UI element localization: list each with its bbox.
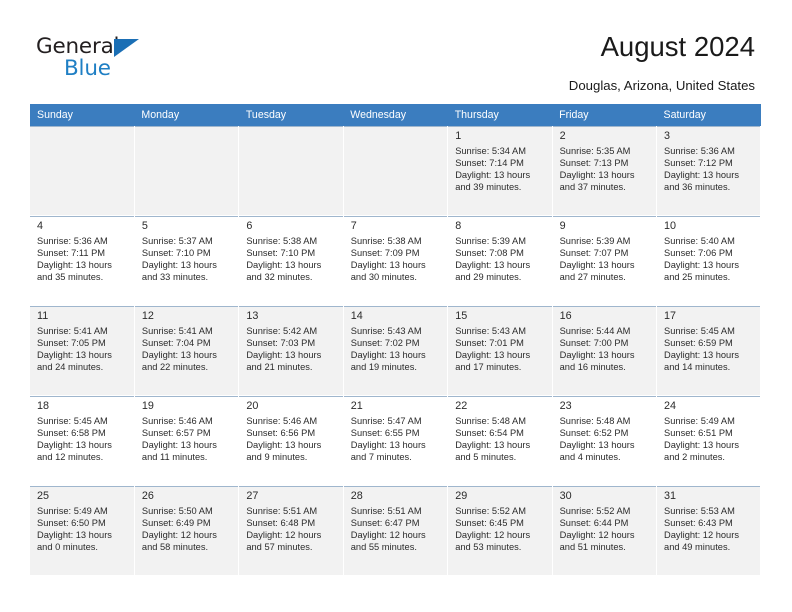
daylight-text-line2: and 58 minutes. <box>142 541 233 553</box>
cell-body: 30Sunrise: 5:52 AMSunset: 6:44 PMDayligh… <box>553 486 656 575</box>
daylight-text-line1: Daylight: 13 hours <box>37 439 129 451</box>
sunset-text: Sunset: 6:59 PM <box>664 337 755 349</box>
day-number: 1 <box>455 130 546 143</box>
day-details: Sunrise: 5:51 AMSunset: 6:48 PMDaylight:… <box>246 505 337 553</box>
daylight-text-line2: and 51 minutes. <box>560 541 651 553</box>
sunrise-text: Sunrise: 5:48 AM <box>455 415 546 427</box>
daylight-text-line1: Daylight: 13 hours <box>560 439 651 451</box>
day-details: Sunrise: 5:45 AMSunset: 6:59 PMDaylight:… <box>664 325 755 373</box>
daylight-text-line1: Daylight: 12 hours <box>246 529 337 541</box>
daylight-text-line2: and 55 minutes. <box>351 541 442 553</box>
day-number: 21 <box>351 400 442 413</box>
sunrise-text: Sunrise: 5:52 AM <box>560 505 651 517</box>
daylight-text-line1: Daylight: 13 hours <box>664 439 755 451</box>
daylight-text-line1: Daylight: 13 hours <box>351 259 442 271</box>
cell-body: 24Sunrise: 5:49 AMSunset: 6:51 PMDayligh… <box>657 396 760 485</box>
calendar-day-cell[interactable]: 5Sunrise: 5:37 AMSunset: 7:10 PMDaylight… <box>134 216 238 306</box>
daylight-text-line1: Daylight: 13 hours <box>664 169 755 181</box>
sunrise-text: Sunrise: 5:38 AM <box>246 235 337 247</box>
daylight-text-line2: and 2 minutes. <box>664 451 755 463</box>
day-number: 5 <box>142 220 233 233</box>
sunset-text: Sunset: 6:52 PM <box>560 427 651 439</box>
day-details: Sunrise: 5:52 AMSunset: 6:44 PMDaylight:… <box>560 505 651 553</box>
calendar-day-cell[interactable]: 7Sunrise: 5:38 AMSunset: 7:09 PMDaylight… <box>343 216 447 306</box>
sunset-text: Sunset: 6:58 PM <box>37 427 129 439</box>
cell-body: 25Sunrise: 5:49 AMSunset: 6:50 PMDayligh… <box>30 486 134 575</box>
daylight-text-line2: and 33 minutes. <box>142 271 233 283</box>
calendar-day-cell[interactable]: 23Sunrise: 5:48 AMSunset: 6:52 PMDayligh… <box>552 396 656 486</box>
weekday-header-saturday: Saturday <box>657 104 761 126</box>
calendar-cell-empty <box>134 126 238 216</box>
sunrise-text: Sunrise: 5:41 AM <box>142 325 233 337</box>
cell-body: 12Sunrise: 5:41 AMSunset: 7:04 PMDayligh… <box>135 306 238 395</box>
sunrise-text: Sunrise: 5:34 AM <box>455 145 546 157</box>
daylight-text-line1: Daylight: 13 hours <box>142 349 233 361</box>
daylight-text-line2: and 17 minutes. <box>455 361 546 373</box>
day-details: Sunrise: 5:45 AMSunset: 6:58 PMDaylight:… <box>37 415 129 463</box>
day-number: 2 <box>560 130 651 143</box>
daylight-text-line1: Daylight: 13 hours <box>246 439 337 451</box>
cell-body <box>239 126 342 215</box>
day-details: Sunrise: 5:41 AMSunset: 7:05 PMDaylight:… <box>37 325 129 373</box>
weekday-header-friday: Friday <box>552 104 656 126</box>
day-details: Sunrise: 5:35 AMSunset: 7:13 PMDaylight:… <box>560 145 651 193</box>
calendar-day-cell[interactable]: 21Sunrise: 5:47 AMSunset: 6:55 PMDayligh… <box>343 396 447 486</box>
calendar-day-cell[interactable]: 29Sunrise: 5:52 AMSunset: 6:45 PMDayligh… <box>448 486 552 576</box>
day-number: 19 <box>142 400 233 413</box>
calendar-week-row: 25Sunrise: 5:49 AMSunset: 6:50 PMDayligh… <box>30 486 761 576</box>
cell-body: 14Sunrise: 5:43 AMSunset: 7:02 PMDayligh… <box>344 306 447 395</box>
day-number: 10 <box>664 220 755 233</box>
sunset-text: Sunset: 7:14 PM <box>455 157 546 169</box>
cell-body: 28Sunrise: 5:51 AMSunset: 6:47 PMDayligh… <box>344 486 447 575</box>
calendar-day-cell[interactable]: 24Sunrise: 5:49 AMSunset: 6:51 PMDayligh… <box>657 396 761 486</box>
daylight-text-line2: and 30 minutes. <box>351 271 442 283</box>
sunrise-sunset-calendar: Sunday Monday Tuesday Wednesday Thursday… <box>30 104 761 576</box>
weekday-header-thursday: Thursday <box>448 104 552 126</box>
cell-body: 20Sunrise: 5:46 AMSunset: 6:56 PMDayligh… <box>239 396 342 485</box>
sunrise-text: Sunrise: 5:52 AM <box>455 505 546 517</box>
sunrise-text: Sunrise: 5:38 AM <box>351 235 442 247</box>
calendar-day-cell[interactable]: 12Sunrise: 5:41 AMSunset: 7:04 PMDayligh… <box>134 306 238 396</box>
sunset-text: Sunset: 7:07 PM <box>560 247 651 259</box>
sunrise-text: Sunrise: 5:42 AM <box>246 325 337 337</box>
day-number: 12 <box>142 310 233 323</box>
day-details: Sunrise: 5:34 AMSunset: 7:14 PMDaylight:… <box>455 145 546 193</box>
day-number: 14 <box>351 310 442 323</box>
triangle-icon <box>114 39 139 57</box>
sunset-text: Sunset: 7:01 PM <box>455 337 546 349</box>
daylight-text-line2: and 0 minutes. <box>37 541 129 553</box>
sunrise-text: Sunrise: 5:46 AM <box>246 415 337 427</box>
day-details: Sunrise: 5:38 AMSunset: 7:09 PMDaylight:… <box>351 235 442 283</box>
day-number: 15 <box>455 310 546 323</box>
day-details: Sunrise: 5:46 AMSunset: 6:56 PMDaylight:… <box>246 415 337 463</box>
calendar-day-cell[interactable]: 17Sunrise: 5:45 AMSunset: 6:59 PMDayligh… <box>657 306 761 396</box>
sunset-text: Sunset: 7:02 PM <box>351 337 442 349</box>
daylight-text-line1: Daylight: 13 hours <box>37 529 129 541</box>
calendar-week-row: 11Sunrise: 5:41 AMSunset: 7:05 PMDayligh… <box>30 306 761 396</box>
day-number: 26 <box>142 490 233 503</box>
daylight-text-line2: and 24 minutes. <box>37 361 129 373</box>
day-details: Sunrise: 5:38 AMSunset: 7:10 PMDaylight:… <box>246 235 337 283</box>
sunrise-text: Sunrise: 5:51 AM <box>246 505 337 517</box>
page-title: August 2024 <box>601 33 755 61</box>
day-number: 31 <box>664 490 755 503</box>
calendar-day-cell[interactable]: 31Sunrise: 5:53 AMSunset: 6:43 PMDayligh… <box>657 486 761 576</box>
daylight-text-line2: and 21 minutes. <box>246 361 337 373</box>
cell-body: 19Sunrise: 5:46 AMSunset: 6:57 PMDayligh… <box>135 396 238 485</box>
calendar-day-cell[interactable]: 3Sunrise: 5:36 AMSunset: 7:12 PMDaylight… <box>657 126 761 216</box>
cell-body: 31Sunrise: 5:53 AMSunset: 6:43 PMDayligh… <box>657 486 760 575</box>
day-number: 22 <box>455 400 546 413</box>
daylight-text-line1: Daylight: 13 hours <box>560 259 651 271</box>
daylight-text-line2: and 32 minutes. <box>246 271 337 283</box>
logo[interactable]: General Blue <box>36 36 166 84</box>
day-number: 20 <box>246 400 337 413</box>
day-details: Sunrise: 5:39 AMSunset: 7:08 PMDaylight:… <box>455 235 546 283</box>
weekday-header-monday: Monday <box>134 104 238 126</box>
day-number: 17 <box>664 310 755 323</box>
sunrise-text: Sunrise: 5:41 AM <box>37 325 129 337</box>
day-details: Sunrise: 5:48 AMSunset: 6:52 PMDaylight:… <box>560 415 651 463</box>
day-number: 11 <box>37 310 129 323</box>
day-details: Sunrise: 5:50 AMSunset: 6:49 PMDaylight:… <box>142 505 233 553</box>
calendar-body: 1Sunrise: 5:34 AMSunset: 7:14 PMDaylight… <box>30 126 761 576</box>
weekday-header-tuesday: Tuesday <box>239 104 343 126</box>
calendar-week-row: 4Sunrise: 5:36 AMSunset: 7:11 PMDaylight… <box>30 216 761 306</box>
cell-body: 11Sunrise: 5:41 AMSunset: 7:05 PMDayligh… <box>30 306 134 395</box>
daylight-text-line2: and 11 minutes. <box>142 451 233 463</box>
daylight-text-line2: and 19 minutes. <box>351 361 442 373</box>
calendar-day-cell[interactable]: 13Sunrise: 5:42 AMSunset: 7:03 PMDayligh… <box>239 306 343 396</box>
sunset-text: Sunset: 7:05 PM <box>37 337 129 349</box>
cell-body: 5Sunrise: 5:37 AMSunset: 7:10 PMDaylight… <box>135 216 238 305</box>
cell-body: 8Sunrise: 5:39 AMSunset: 7:08 PMDaylight… <box>448 216 551 305</box>
sunset-text: Sunset: 6:57 PM <box>142 427 233 439</box>
sunset-text: Sunset: 6:44 PM <box>560 517 651 529</box>
daylight-text-line1: Daylight: 13 hours <box>455 439 546 451</box>
day-details: Sunrise: 5:53 AMSunset: 6:43 PMDaylight:… <box>664 505 755 553</box>
sunset-text: Sunset: 6:48 PM <box>246 517 337 529</box>
daylight-text-line2: and 36 minutes. <box>664 181 755 193</box>
sunrise-text: Sunrise: 5:37 AM <box>142 235 233 247</box>
daylight-text-line1: Daylight: 13 hours <box>455 169 546 181</box>
day-number: 30 <box>560 490 651 503</box>
day-number: 3 <box>664 130 755 143</box>
sunset-text: Sunset: 7:12 PM <box>664 157 755 169</box>
sunset-text: Sunset: 6:56 PM <box>246 427 337 439</box>
day-details: Sunrise: 5:40 AMSunset: 7:06 PMDaylight:… <box>664 235 755 283</box>
cell-body <box>344 126 447 215</box>
daylight-text-line1: Daylight: 12 hours <box>455 529 546 541</box>
day-details: Sunrise: 5:43 AMSunset: 7:02 PMDaylight:… <box>351 325 442 373</box>
day-number: 16 <box>560 310 651 323</box>
calendar-day-cell[interactable]: 14Sunrise: 5:43 AMSunset: 7:02 PMDayligh… <box>343 306 447 396</box>
sunrise-text: Sunrise: 5:44 AM <box>560 325 651 337</box>
daylight-text-line1: Daylight: 13 hours <box>351 349 442 361</box>
daylight-text-line2: and 57 minutes. <box>246 541 337 553</box>
day-number: 8 <box>455 220 546 233</box>
sunrise-text: Sunrise: 5:36 AM <box>664 145 755 157</box>
logo-text-general: General <box>36 36 119 58</box>
calendar-cell-empty <box>239 126 343 216</box>
day-number: 6 <box>246 220 337 233</box>
calendar-day-cell[interactable]: 10Sunrise: 5:40 AMSunset: 7:06 PMDayligh… <box>657 216 761 306</box>
day-details: Sunrise: 5:36 AMSunset: 7:12 PMDaylight:… <box>664 145 755 193</box>
sunrise-text: Sunrise: 5:39 AM <box>455 235 546 247</box>
sunrise-text: Sunrise: 5:45 AM <box>664 325 755 337</box>
cell-body: 17Sunrise: 5:45 AMSunset: 6:59 PMDayligh… <box>657 306 760 395</box>
sunset-text: Sunset: 7:04 PM <box>142 337 233 349</box>
daylight-text-line2: and 7 minutes. <box>351 451 442 463</box>
calendar-day-cell[interactable]: 26Sunrise: 5:50 AMSunset: 6:49 PMDayligh… <box>134 486 238 576</box>
cell-body: 9Sunrise: 5:39 AMSunset: 7:07 PMDaylight… <box>553 216 656 305</box>
daylight-text-line1: Daylight: 13 hours <box>37 349 129 361</box>
page-header: General Blue August 2024 Douglas, Arizon… <box>0 0 792 102</box>
day-details: Sunrise: 5:51 AMSunset: 6:47 PMDaylight:… <box>351 505 442 553</box>
day-number: 27 <box>246 490 337 503</box>
day-details: Sunrise: 5:44 AMSunset: 7:00 PMDaylight:… <box>560 325 651 373</box>
cell-body: 2Sunrise: 5:35 AMSunset: 7:13 PMDaylight… <box>553 126 656 215</box>
calendar-day-cell[interactable]: 30Sunrise: 5:52 AMSunset: 6:44 PMDayligh… <box>552 486 656 576</box>
calendar-day-cell[interactable]: 28Sunrise: 5:51 AMSunset: 6:47 PMDayligh… <box>343 486 447 576</box>
sunset-text: Sunset: 7:13 PM <box>560 157 651 169</box>
day-details: Sunrise: 5:36 AMSunset: 7:11 PMDaylight:… <box>37 235 129 283</box>
daylight-text-line1: Daylight: 13 hours <box>664 349 755 361</box>
daylight-text-line2: and 39 minutes. <box>455 181 546 193</box>
calendar-day-cell[interactable]: 11Sunrise: 5:41 AMSunset: 7:05 PMDayligh… <box>30 306 134 396</box>
daylight-text-line2: and 9 minutes. <box>246 451 337 463</box>
location-subtitle: Douglas, Arizona, United States <box>569 79 755 92</box>
calendar-day-cell[interactable]: 8Sunrise: 5:39 AMSunset: 7:08 PMDaylight… <box>448 216 552 306</box>
calendar-week-row: 18Sunrise: 5:45 AMSunset: 6:58 PMDayligh… <box>30 396 761 486</box>
day-number: 13 <box>246 310 337 323</box>
daylight-text-line2: and 4 minutes. <box>560 451 651 463</box>
day-details: Sunrise: 5:49 AMSunset: 6:50 PMDaylight:… <box>37 505 129 553</box>
sunset-text: Sunset: 6:43 PM <box>664 517 755 529</box>
sunset-text: Sunset: 7:08 PM <box>455 247 546 259</box>
day-number: 7 <box>351 220 442 233</box>
day-details: Sunrise: 5:41 AMSunset: 7:04 PMDaylight:… <box>142 325 233 373</box>
daylight-text-line1: Daylight: 13 hours <box>142 259 233 271</box>
sunset-text: Sunset: 7:11 PM <box>37 247 129 259</box>
sunrise-text: Sunrise: 5:36 AM <box>37 235 129 247</box>
cell-body: 3Sunrise: 5:36 AMSunset: 7:12 PMDaylight… <box>657 126 760 215</box>
calendar-day-cell[interactable]: 25Sunrise: 5:49 AMSunset: 6:50 PMDayligh… <box>30 486 134 576</box>
daylight-text-line1: Daylight: 13 hours <box>142 439 233 451</box>
sunrise-text: Sunrise: 5:39 AM <box>560 235 651 247</box>
day-number: 9 <box>560 220 651 233</box>
sunrise-text: Sunrise: 5:40 AM <box>664 235 755 247</box>
calendar-week-row: 1Sunrise: 5:34 AMSunset: 7:14 PMDaylight… <box>30 126 761 216</box>
day-details: Sunrise: 5:52 AMSunset: 6:45 PMDaylight:… <box>455 505 546 553</box>
sunset-text: Sunset: 6:50 PM <box>37 517 129 529</box>
daylight-text-line2: and 16 minutes. <box>560 361 651 373</box>
sunrise-text: Sunrise: 5:53 AM <box>664 505 755 517</box>
calendar-day-cell[interactable]: 22Sunrise: 5:48 AMSunset: 6:54 PMDayligh… <box>448 396 552 486</box>
daylight-text-line1: Daylight: 13 hours <box>664 259 755 271</box>
day-details: Sunrise: 5:43 AMSunset: 7:01 PMDaylight:… <box>455 325 546 373</box>
day-number: 23 <box>560 400 651 413</box>
cell-body: 27Sunrise: 5:51 AMSunset: 6:48 PMDayligh… <box>239 486 342 575</box>
daylight-text-line2: and 12 minutes. <box>37 451 129 463</box>
cell-body: 26Sunrise: 5:50 AMSunset: 6:49 PMDayligh… <box>135 486 238 575</box>
calendar-day-cell[interactable]: 2Sunrise: 5:35 AMSunset: 7:13 PMDaylight… <box>552 126 656 216</box>
day-number: 18 <box>37 400 129 413</box>
daylight-text-line1: Daylight: 13 hours <box>351 439 442 451</box>
daylight-text-line2: and 53 minutes. <box>455 541 546 553</box>
calendar-day-cell[interactable]: 27Sunrise: 5:51 AMSunset: 6:48 PMDayligh… <box>239 486 343 576</box>
daylight-text-line1: Daylight: 12 hours <box>351 529 442 541</box>
daylight-text-line1: Daylight: 13 hours <box>455 259 546 271</box>
day-details: Sunrise: 5:39 AMSunset: 7:07 PMDaylight:… <box>560 235 651 283</box>
calendar-day-cell[interactable]: 16Sunrise: 5:44 AMSunset: 7:00 PMDayligh… <box>552 306 656 396</box>
daylight-text-line2: and 49 minutes. <box>664 541 755 553</box>
sunset-text: Sunset: 7:10 PM <box>246 247 337 259</box>
daylight-text-line2: and 27 minutes. <box>560 271 651 283</box>
sunrise-text: Sunrise: 5:49 AM <box>37 505 129 517</box>
day-number: 24 <box>664 400 755 413</box>
daylight-text-line1: Daylight: 13 hours <box>560 169 651 181</box>
sunrise-text: Sunrise: 5:35 AM <box>560 145 651 157</box>
calendar-cell-empty <box>30 126 134 216</box>
day-details: Sunrise: 5:37 AMSunset: 7:10 PMDaylight:… <box>142 235 233 283</box>
calendar-day-cell[interactable]: 18Sunrise: 5:45 AMSunset: 6:58 PMDayligh… <box>30 396 134 486</box>
sunset-text: Sunset: 6:55 PM <box>351 427 442 439</box>
cell-body: 16Sunrise: 5:44 AMSunset: 7:00 PMDayligh… <box>553 306 656 395</box>
daylight-text-line1: Daylight: 12 hours <box>664 529 755 541</box>
cell-body <box>135 126 238 215</box>
cell-body: 13Sunrise: 5:42 AMSunset: 7:03 PMDayligh… <box>239 306 342 395</box>
calendar-day-cell[interactable]: 6Sunrise: 5:38 AMSunset: 7:10 PMDaylight… <box>239 216 343 306</box>
sunrise-text: Sunrise: 5:50 AM <box>142 505 233 517</box>
daylight-text-line1: Daylight: 13 hours <box>455 349 546 361</box>
sunset-text: Sunset: 6:47 PM <box>351 517 442 529</box>
cell-body <box>30 126 134 215</box>
daylight-text-line2: and 5 minutes. <box>455 451 546 463</box>
sunrise-text: Sunrise: 5:43 AM <box>351 325 442 337</box>
calendar-day-cell[interactable]: 15Sunrise: 5:43 AMSunset: 7:01 PMDayligh… <box>448 306 552 396</box>
cell-body: 23Sunrise: 5:48 AMSunset: 6:52 PMDayligh… <box>553 396 656 485</box>
sunrise-text: Sunrise: 5:43 AM <box>455 325 546 337</box>
weekday-header-row: Sunday Monday Tuesday Wednesday Thursday… <box>30 104 761 126</box>
calendar-day-cell[interactable]: 1Sunrise: 5:34 AMSunset: 7:14 PMDaylight… <box>448 126 552 216</box>
daylight-text-line1: Daylight: 12 hours <box>560 529 651 541</box>
sunset-text: Sunset: 7:03 PM <box>246 337 337 349</box>
daylight-text-line1: Daylight: 12 hours <box>142 529 233 541</box>
day-number: 28 <box>351 490 442 503</box>
sunrise-text: Sunrise: 5:46 AM <box>142 415 233 427</box>
cell-body: 1Sunrise: 5:34 AMSunset: 7:14 PMDaylight… <box>448 126 551 215</box>
cell-body: 21Sunrise: 5:47 AMSunset: 6:55 PMDayligh… <box>344 396 447 485</box>
sunrise-text: Sunrise: 5:48 AM <box>560 415 651 427</box>
daylight-text-line2: and 22 minutes. <box>142 361 233 373</box>
daylight-text-line1: Daylight: 13 hours <box>560 349 651 361</box>
calendar-day-cell[interactable]: 19Sunrise: 5:46 AMSunset: 6:57 PMDayligh… <box>134 396 238 486</box>
cell-body: 4Sunrise: 5:36 AMSunset: 7:11 PMDaylight… <box>30 216 134 305</box>
calendar-cell-empty <box>343 126 447 216</box>
logo-text-blue: Blue <box>64 58 111 80</box>
daylight-text-line1: Daylight: 13 hours <box>37 259 129 271</box>
day-details: Sunrise: 5:47 AMSunset: 6:55 PMDaylight:… <box>351 415 442 463</box>
sunrise-text: Sunrise: 5:51 AM <box>351 505 442 517</box>
sunset-text: Sunset: 6:54 PM <box>455 427 546 439</box>
day-number: 29 <box>455 490 546 503</box>
daylight-text-line2: and 25 minutes. <box>664 271 755 283</box>
cell-body: 10Sunrise: 5:40 AMSunset: 7:06 PMDayligh… <box>657 216 760 305</box>
sunrise-text: Sunrise: 5:49 AM <box>664 415 755 427</box>
daylight-text-line2: and 14 minutes. <box>664 361 755 373</box>
cell-body: 18Sunrise: 5:45 AMSunset: 6:58 PMDayligh… <box>30 396 134 485</box>
weekday-header-sunday: Sunday <box>30 104 134 126</box>
sunset-text: Sunset: 6:45 PM <box>455 517 546 529</box>
daylight-text-line1: Daylight: 13 hours <box>246 259 337 271</box>
cell-body: 29Sunrise: 5:52 AMSunset: 6:45 PMDayligh… <box>448 486 551 575</box>
sunset-text: Sunset: 7:10 PM <box>142 247 233 259</box>
weekday-header-wednesday: Wednesday <box>343 104 447 126</box>
sunset-text: Sunset: 7:09 PM <box>351 247 442 259</box>
calendar-day-cell[interactable]: 4Sunrise: 5:36 AMSunset: 7:11 PMDaylight… <box>30 216 134 306</box>
sunset-text: Sunset: 7:06 PM <box>664 247 755 259</box>
day-details: Sunrise: 5:48 AMSunset: 6:54 PMDaylight:… <box>455 415 546 463</box>
sunset-text: Sunset: 6:49 PM <box>142 517 233 529</box>
day-details: Sunrise: 5:46 AMSunset: 6:57 PMDaylight:… <box>142 415 233 463</box>
calendar-day-cell[interactable]: 20Sunrise: 5:46 AMSunset: 6:56 PMDayligh… <box>239 396 343 486</box>
cell-body: 22Sunrise: 5:48 AMSunset: 6:54 PMDayligh… <box>448 396 551 485</box>
calendar-day-cell[interactable]: 9Sunrise: 5:39 AMSunset: 7:07 PMDaylight… <box>552 216 656 306</box>
daylight-text-line2: and 37 minutes. <box>560 181 651 193</box>
sunset-text: Sunset: 6:51 PM <box>664 427 755 439</box>
day-number: 4 <box>37 220 129 233</box>
sunrise-text: Sunrise: 5:47 AM <box>351 415 442 427</box>
cell-body: 7Sunrise: 5:38 AMSunset: 7:09 PMDaylight… <box>344 216 447 305</box>
sunset-text: Sunset: 7:00 PM <box>560 337 651 349</box>
cell-body: 6Sunrise: 5:38 AMSunset: 7:10 PMDaylight… <box>239 216 342 305</box>
sunrise-text: Sunrise: 5:45 AM <box>37 415 129 427</box>
day-details: Sunrise: 5:49 AMSunset: 6:51 PMDaylight:… <box>664 415 755 463</box>
calendar-page: General Blue August 2024 Douglas, Arizon… <box>0 0 792 612</box>
daylight-text-line2: and 35 minutes. <box>37 271 129 283</box>
day-details: Sunrise: 5:42 AMSunset: 7:03 PMDaylight:… <box>246 325 337 373</box>
daylight-text-line1: Daylight: 13 hours <box>246 349 337 361</box>
cell-body: 15Sunrise: 5:43 AMSunset: 7:01 PMDayligh… <box>448 306 551 395</box>
day-number: 25 <box>37 490 129 503</box>
daylight-text-line2: and 29 minutes. <box>455 271 546 283</box>
